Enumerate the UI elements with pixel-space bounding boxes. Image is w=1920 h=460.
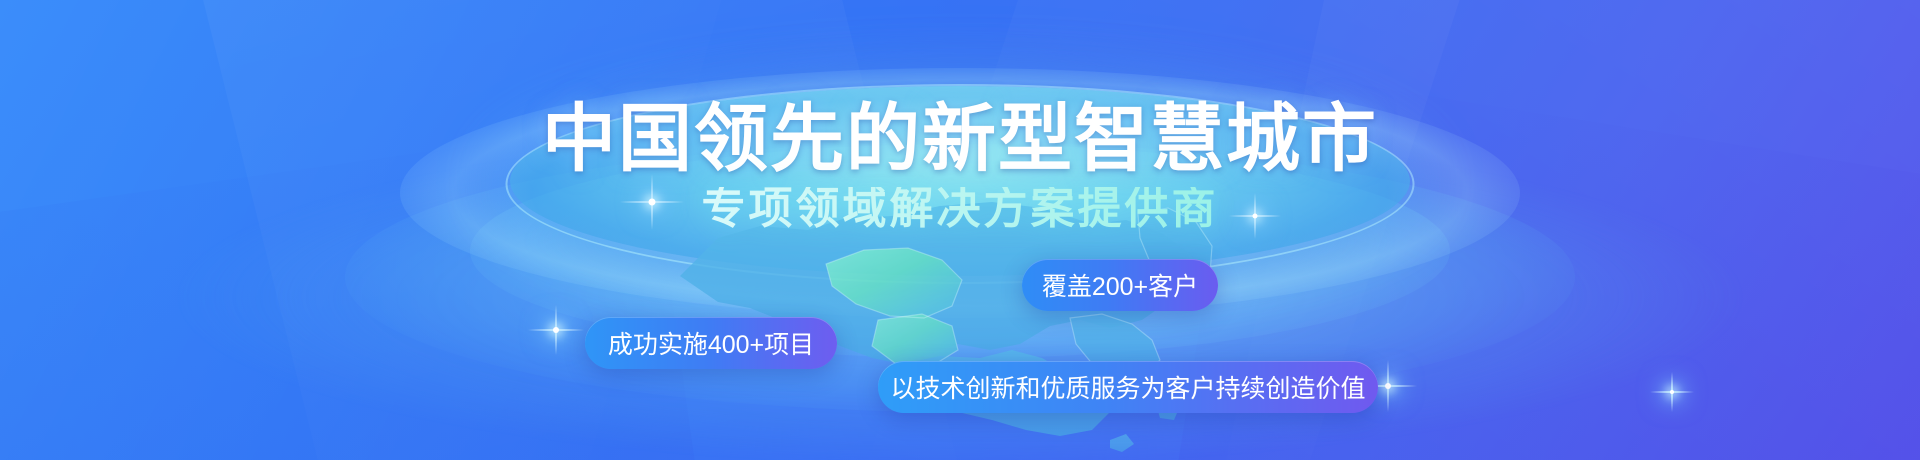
smart-city-hero-banner: 中国领先的新型智慧城市 专项领域解决方案提供商 覆盖200+客户 成功实施400… [0, 0, 1920, 460]
page-title: 中国领先的新型智慧城市 [0, 102, 1920, 176]
page-subtitle: 专项领域解决方案提供商 [0, 187, 1920, 231]
badge-projects: 成功实施400+项目 [585, 317, 837, 369]
badge-customers: 覆盖200+客户 [1022, 259, 1218, 311]
badge-value-statement: 以技术创新和优质服务为客户持续创造价值 [878, 361, 1378, 413]
